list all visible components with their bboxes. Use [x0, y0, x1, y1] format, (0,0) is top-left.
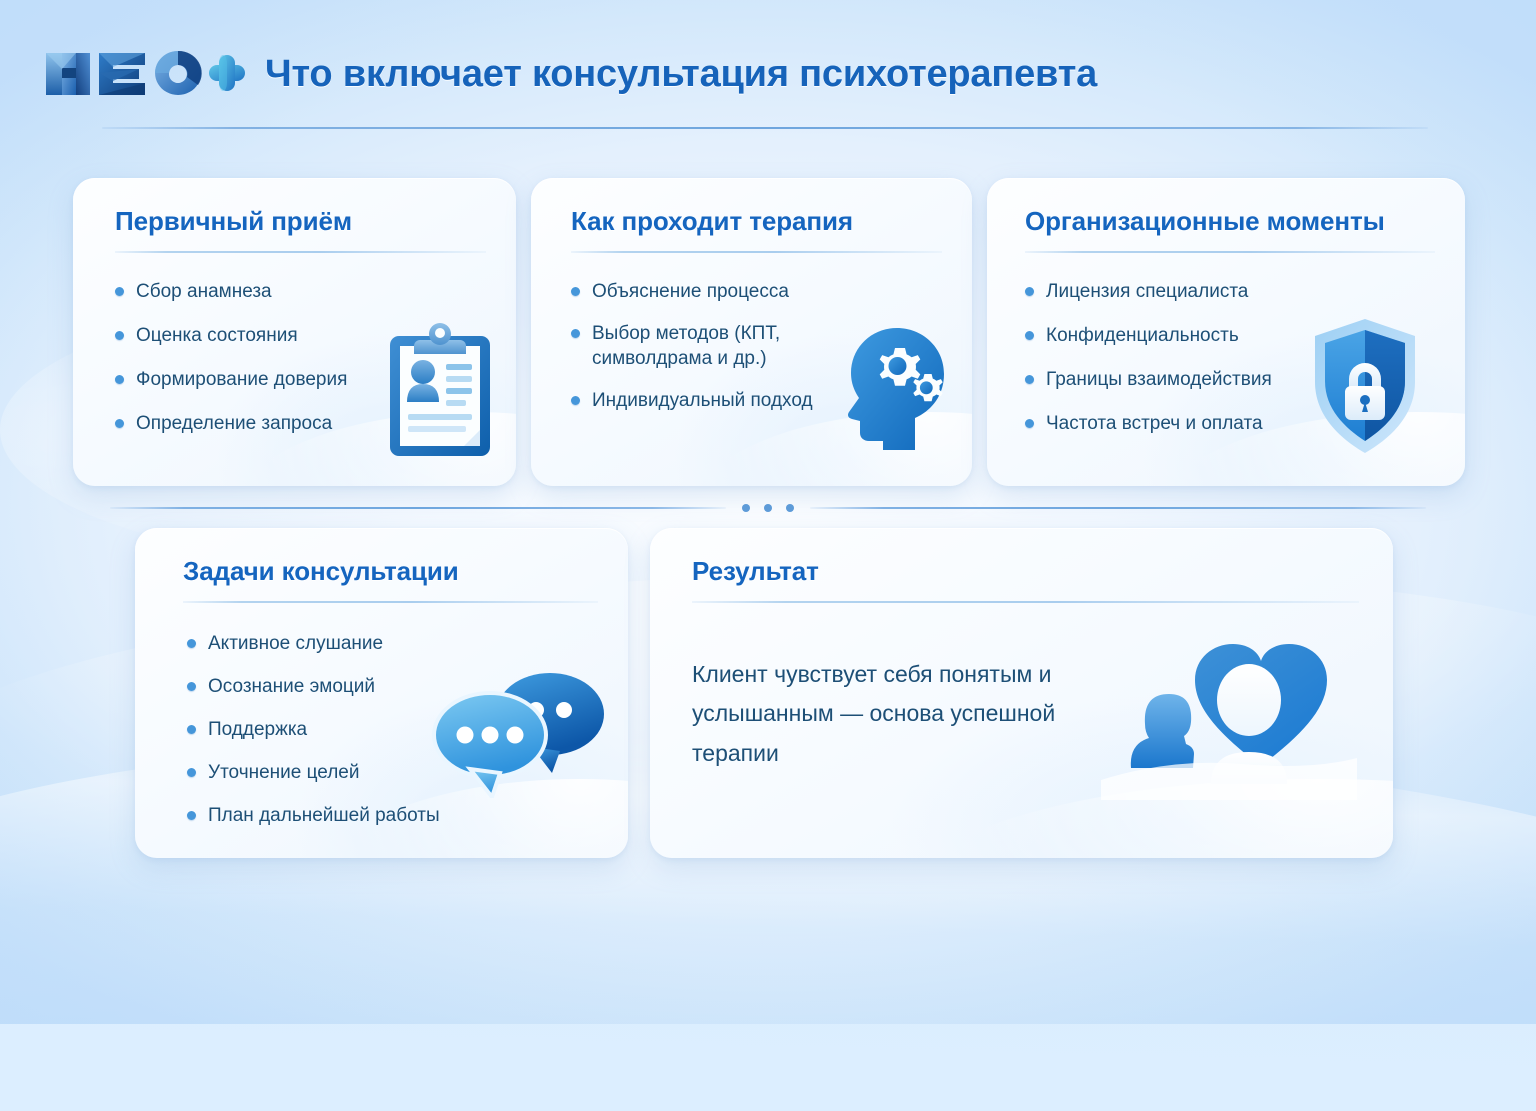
header-row: Что включает консультация психотерапевта	[40, 38, 1496, 110]
bullet-dot-icon	[187, 811, 196, 820]
list-item-label: Поддержка	[208, 717, 307, 742]
bullet-dot-icon	[187, 768, 196, 777]
divider-dots	[726, 504, 810, 512]
section-divider	[110, 503, 1426, 513]
card-rule	[692, 601, 1359, 603]
list-item-label: Границы взаимодействия	[1046, 367, 1272, 392]
bullet-dot-icon	[187, 725, 196, 734]
list-item-label: Объяснение процесса	[592, 279, 789, 304]
page-title: Что включает консультация психотерапевта	[265, 53, 1097, 96]
neo-plus-logo-icon	[42, 45, 247, 103]
list-item-label: Определение запроса	[136, 411, 332, 436]
card-rule	[183, 601, 598, 603]
card-rule	[115, 251, 486, 253]
bullet-dot-icon	[571, 329, 580, 338]
list-item: Объяснение процесса	[571, 279, 942, 304]
card-result[interactable]: Результат Клиент чувствует себя понятым …	[650, 528, 1393, 858]
list-item-label: Частота встреч и оплата	[1046, 411, 1263, 436]
infographic-page: Что включает консультация психотерапевта…	[0, 0, 1536, 1024]
list-item: План дальнейшей работы	[187, 803, 598, 828]
divider-segment-left	[110, 507, 726, 509]
card-swoosh	[910, 779, 1393, 858]
bullet-dot-icon	[1025, 375, 1034, 384]
bullet-dot-icon	[1025, 287, 1034, 296]
bullet-list: Сбор анамнеза Оценка состояния Формирова…	[115, 279, 486, 436]
list-item: Поддержка	[187, 717, 598, 742]
list-item: Формирование доверия	[115, 367, 486, 392]
card-title: Задачи консультации	[183, 556, 598, 587]
list-item-label: Формирование доверия	[136, 367, 347, 392]
card-org[interactable]: Организационные моменты Лицензия специал…	[987, 178, 1465, 486]
list-item-label: Лицензия специалиста	[1046, 279, 1248, 304]
bullet-dot-icon	[1025, 331, 1034, 340]
bullet-list: Лицензия специалиста Конфиденциальность …	[1025, 279, 1435, 436]
card-title: Как проходит терапия	[571, 206, 942, 237]
bullet-dot-icon	[571, 287, 580, 296]
bullet-list: Активное слушание Осознание эмоций Подде…	[183, 631, 598, 828]
list-item: Частота встреч и оплата	[1025, 411, 1435, 436]
bullet-dot-icon	[187, 682, 196, 691]
list-item: Уточнение целей	[187, 760, 598, 785]
card-therapy[interactable]: Как проходит терапия Объяснение процесса…	[531, 178, 972, 486]
list-item: Индивидуальный подход	[571, 388, 942, 413]
bullet-dot-icon	[571, 396, 580, 405]
bullet-dot-icon	[115, 331, 124, 340]
divider-dot-icon	[786, 504, 794, 512]
list-item: Конфиденциальность	[1025, 323, 1435, 348]
result-text: Клиент чувствует себя понятым и услышанн…	[692, 655, 1112, 774]
list-item-label: Выбор методов (КПТ, символдрама и др.)	[592, 321, 829, 371]
divider-dot-icon	[742, 504, 750, 512]
list-item: Активное слушание	[187, 631, 598, 656]
list-item: Осознание эмоций	[187, 674, 598, 699]
card-title: Результат	[692, 556, 1359, 587]
list-item-label: Уточнение целей	[208, 760, 360, 785]
list-item: Границы взаимодействия	[1025, 367, 1435, 392]
list-item: Выбор методов (КПТ, символдрама и др.)	[571, 321, 829, 371]
divider-dot-icon	[764, 504, 772, 512]
card-title: Организационные моменты	[1025, 206, 1435, 237]
list-item: Определение запроса	[115, 411, 486, 436]
card-swoosh	[685, 412, 972, 486]
header: Что включает консультация психотерапевта	[40, 38, 1496, 138]
list-item-label: Активное слушание	[208, 631, 383, 656]
list-item-label: Осознание эмоций	[208, 674, 375, 699]
card-rule	[1025, 251, 1435, 253]
list-item-label: Конфиденциальность	[1046, 323, 1239, 348]
card-rule	[571, 251, 942, 253]
bullet-dot-icon	[115, 419, 124, 428]
card-title: Первичный приём	[115, 206, 486, 237]
list-item-label: Оценка состояния	[136, 323, 298, 348]
bullet-dot-icon	[115, 375, 124, 384]
list-item: Лицензия специалиста	[1025, 279, 1435, 304]
bullet-dot-icon	[187, 639, 196, 648]
list-item: Сбор анамнеза	[115, 279, 486, 304]
list-item-label: Сбор анамнеза	[136, 279, 272, 304]
divider-segment-right	[810, 507, 1426, 509]
list-item-label: Индивидуальный подход	[592, 388, 813, 413]
list-item-label: План дальнейшей работы	[208, 803, 440, 828]
bullet-dot-icon	[1025, 419, 1034, 428]
card-goals[interactable]: Задачи консультации Активное слушание Ос…	[135, 528, 628, 858]
bullet-dot-icon	[115, 287, 124, 296]
card-intake[interactable]: Первичный приём Сбор анамнеза Оценка сос…	[73, 178, 516, 486]
header-rule	[102, 127, 1428, 129]
bullet-list: Объяснение процесса Выбор методов (КПТ, …	[571, 279, 942, 413]
list-item: Оценка состояния	[115, 323, 486, 348]
